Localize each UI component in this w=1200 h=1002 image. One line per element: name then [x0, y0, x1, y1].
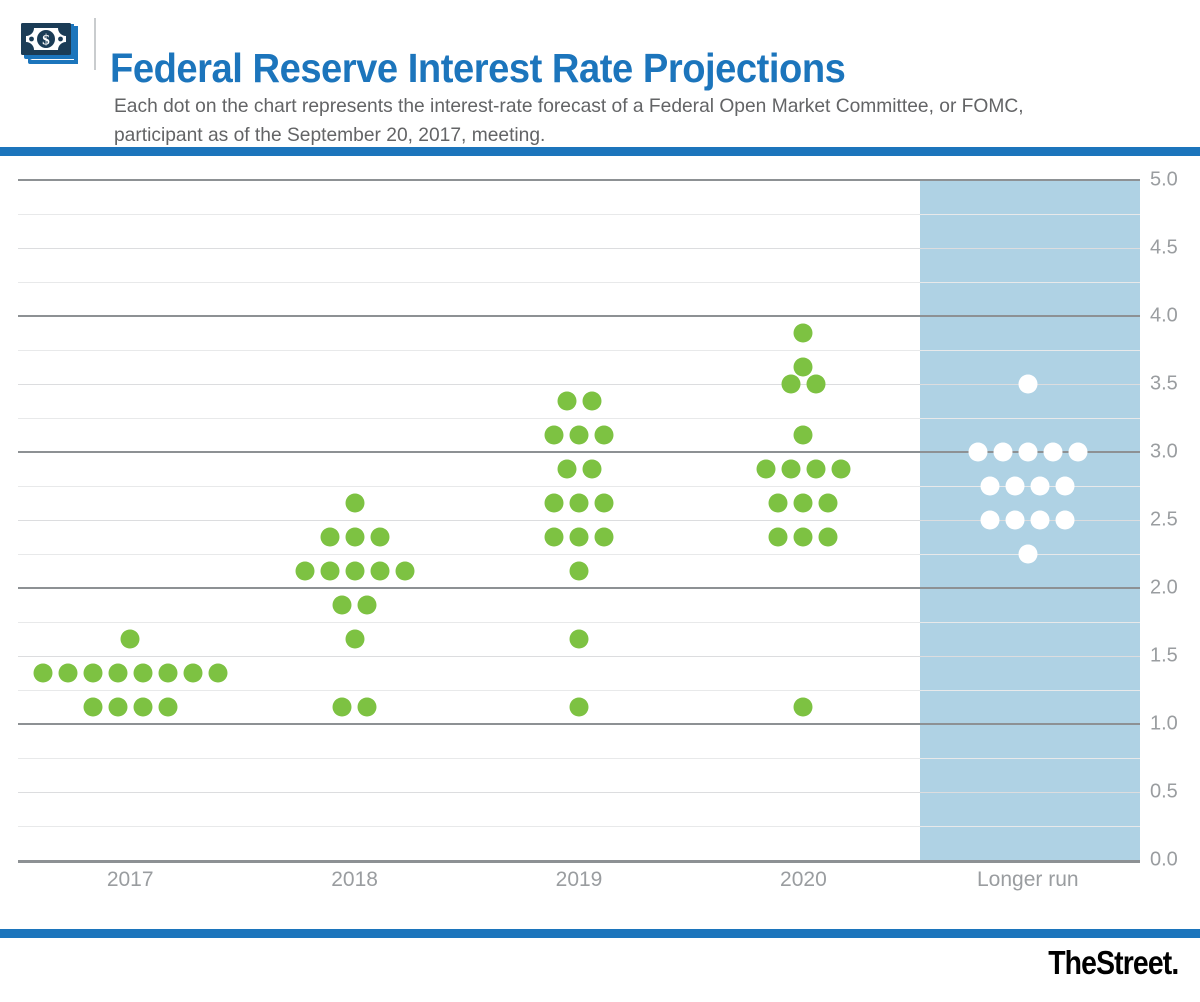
y-axis-tick-label: 3.5: [1150, 373, 1178, 396]
data-dot: [570, 528, 589, 547]
data-dot: [345, 562, 364, 581]
data-dot: [570, 630, 589, 649]
data-dot: [183, 664, 202, 683]
gridline: [18, 520, 1140, 521]
page-title: Federal Reserve Interest Rate Projection…: [110, 47, 845, 89]
data-dot: [1043, 443, 1062, 462]
gridline: [18, 554, 1140, 555]
data-dot: [595, 528, 614, 547]
data-dot: [358, 698, 377, 717]
data-dot: [83, 664, 102, 683]
y-axis-tick-label: 5.0: [1150, 169, 1178, 192]
gridline: [18, 179, 1140, 181]
data-dot: [993, 443, 1012, 462]
data-dot: [570, 494, 589, 513]
gridline: [18, 723, 1140, 725]
gridline: [18, 248, 1140, 249]
data-dot: [158, 664, 177, 683]
data-dot: [208, 664, 227, 683]
gridline: [18, 587, 1140, 589]
data-dot: [981, 511, 1000, 530]
data-dot: [370, 562, 389, 581]
data-dot: [831, 460, 850, 479]
data-dot: [345, 630, 364, 649]
svg-text:$: $: [42, 33, 50, 49]
x-axis-tick-label: 2017: [107, 868, 154, 892]
y-axis-tick-label: 1.0: [1150, 713, 1178, 736]
data-dot: [545, 494, 564, 513]
data-dot: [1031, 511, 1050, 530]
data-dot: [333, 698, 352, 717]
data-dot: [794, 426, 813, 445]
data-dot: [133, 664, 152, 683]
data-dot: [121, 630, 140, 649]
x-axis-tick-label: 2020: [780, 868, 827, 892]
data-dot: [333, 596, 352, 615]
y-axis-tick-label: 1.5: [1150, 645, 1178, 668]
data-dot: [806, 375, 825, 394]
data-dot: [557, 460, 576, 479]
gridline: [18, 486, 1140, 487]
y-axis-tick-label: 2.5: [1150, 509, 1178, 532]
data-dot: [108, 698, 127, 717]
y-axis-tick-label: 4.0: [1150, 305, 1178, 328]
gridline: [18, 860, 1140, 863]
data-dot: [968, 443, 987, 462]
data-dot: [370, 528, 389, 547]
data-dot: [320, 562, 339, 581]
data-dot: [1056, 511, 1075, 530]
data-dot: [570, 426, 589, 445]
data-dot: [1056, 477, 1075, 496]
data-dot: [595, 426, 614, 445]
gridline: [18, 690, 1140, 691]
data-dot: [358, 596, 377, 615]
data-dot: [981, 477, 1000, 496]
data-dot: [545, 528, 564, 547]
money-stack-icon: $: [18, 20, 84, 72]
data-dot: [781, 460, 800, 479]
dot-plot-chart: 0.00.51.01.52.02.53.03.54.04.55.0 201720…: [0, 156, 1200, 916]
footer-rule: [0, 929, 1200, 938]
gridline: [18, 758, 1140, 759]
plot-area: [18, 180, 1140, 860]
data-dot: [595, 494, 614, 513]
data-dot: [345, 528, 364, 547]
data-dot: [794, 358, 813, 377]
gridline: [18, 656, 1140, 657]
gridline: [18, 282, 1140, 283]
gridline: [18, 826, 1140, 827]
data-dot: [794, 698, 813, 717]
data-dot: [158, 698, 177, 717]
data-dot: [557, 392, 576, 411]
y-axis-tick-label: 4.5: [1150, 237, 1178, 260]
gridline: [18, 350, 1140, 351]
data-dot: [33, 664, 52, 683]
data-dot: [83, 698, 102, 717]
data-dot: [819, 528, 838, 547]
data-dot: [794, 528, 813, 547]
data-dot: [806, 460, 825, 479]
data-dot: [794, 494, 813, 513]
data-dot: [295, 562, 314, 581]
data-dot: [545, 426, 564, 445]
data-dot: [769, 494, 788, 513]
data-dot: [1018, 545, 1037, 564]
y-axis-tick-label: 0.0: [1150, 849, 1178, 872]
data-dot: [1018, 443, 1037, 462]
data-dot: [570, 698, 589, 717]
brand-logo: TheStreet.: [1048, 944, 1178, 982]
x-axis-tick-label: 2018: [331, 868, 378, 892]
header-rule: [0, 147, 1200, 156]
y-axis-tick-label: 2.0: [1150, 577, 1178, 600]
data-dot: [819, 494, 838, 513]
data-dot: [1031, 477, 1050, 496]
page-subtitle: Each dot on the chart represents the int…: [114, 92, 1089, 150]
data-dot: [320, 528, 339, 547]
y-axis-tick-label: 0.5: [1150, 781, 1178, 804]
data-dot: [756, 460, 775, 479]
gridline: [18, 622, 1140, 623]
data-dot: [345, 494, 364, 513]
data-dot: [781, 375, 800, 394]
data-dot: [1006, 477, 1025, 496]
data-dot: [1018, 375, 1037, 394]
data-dot: [133, 698, 152, 717]
title-divider: [94, 18, 96, 70]
data-dot: [58, 664, 77, 683]
x-axis-tick-label: 2019: [556, 868, 603, 892]
gridline: [18, 418, 1140, 419]
data-dot: [108, 664, 127, 683]
data-dot: [1006, 511, 1025, 530]
x-axis-tick-label: Longer run: [977, 868, 1079, 892]
data-dot: [582, 392, 601, 411]
page-header: $ Federal Reserve Interest Rate Projecti…: [0, 0, 1200, 147]
data-dot: [570, 562, 589, 581]
data-dot: [1068, 443, 1087, 462]
gridline: [18, 792, 1140, 793]
data-dot: [395, 562, 414, 581]
data-dot: [769, 528, 788, 547]
y-axis-tick-label: 3.0: [1150, 441, 1178, 464]
gridline: [18, 384, 1140, 385]
data-dot: [794, 324, 813, 343]
gridline: [18, 315, 1140, 317]
data-dot: [582, 460, 601, 479]
gridline: [18, 214, 1140, 215]
